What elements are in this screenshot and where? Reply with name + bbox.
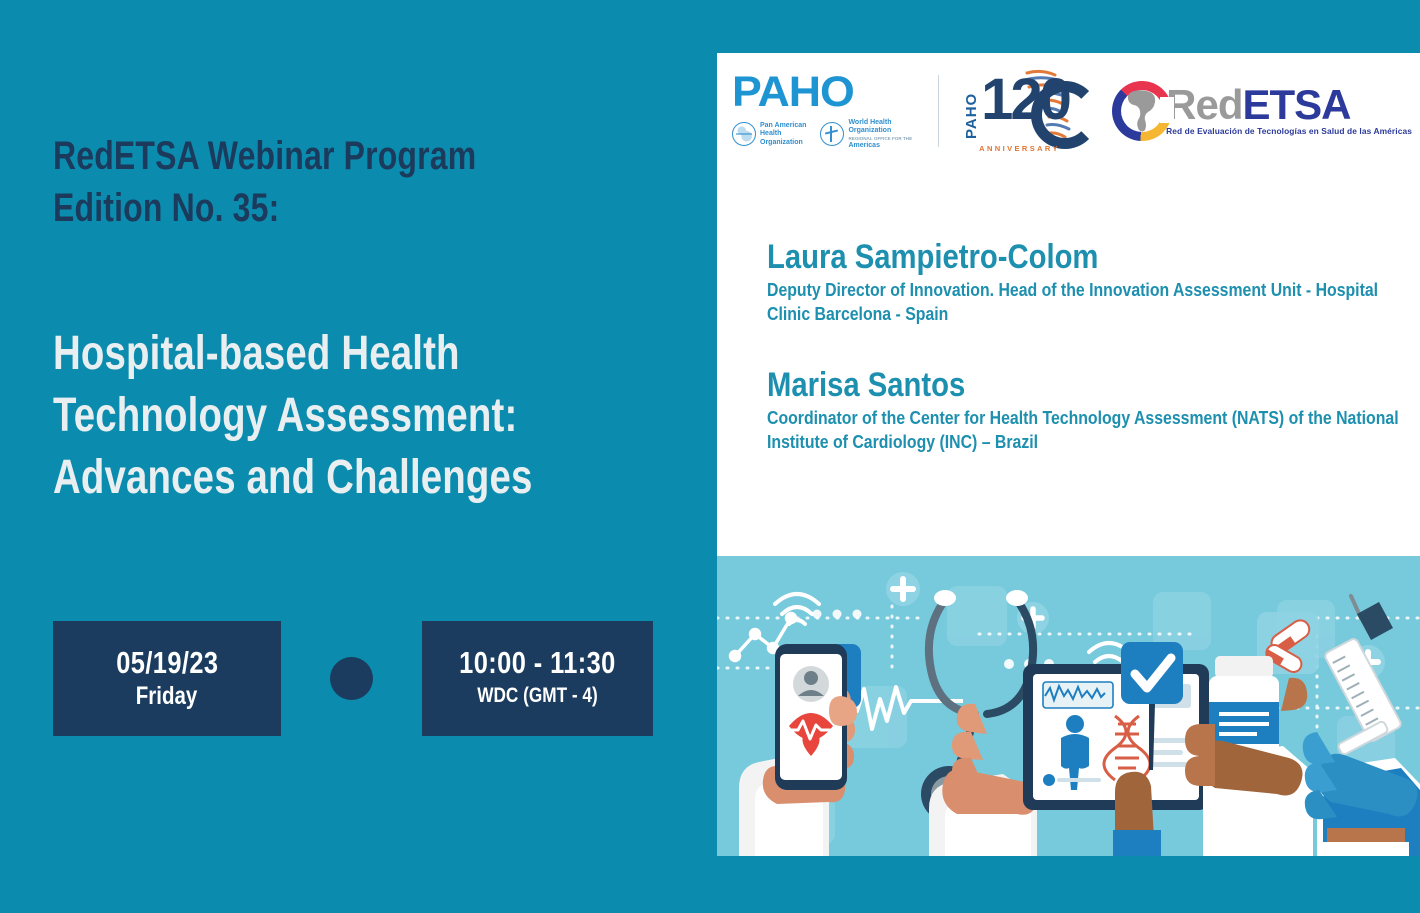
page-title: Hospital-based Health Technology Assessm… — [53, 323, 661, 509]
event-time: 10:00 - 11:30 — [459, 646, 616, 680]
redetsa-wordmark: RedETSA Red de Evaluación de Tecnologías… — [1166, 85, 1412, 136]
illustration-svg — [717, 556, 1420, 856]
who-rod-of-asclepius-icon — [820, 122, 844, 146]
pan-american-health-organization-logo: Pan American Health Organization — [732, 119, 806, 150]
paho-sub-line-3: Organization — [760, 139, 803, 146]
event-date: 05/19/23 — [116, 646, 218, 680]
logo-divider — [938, 75, 939, 147]
kicker-line-1: RedETSA Webinar Program — [53, 130, 549, 182]
speaker-name: Laura Sampietro-Colom — [767, 238, 1326, 276]
who-sub-line-1: World Health — [848, 119, 891, 126]
speaker-role: Coordinator of the Center for Health Tec… — [767, 406, 1413, 454]
paho-sub-text: Pan American Health Organization — [760, 122, 806, 147]
separator-dot — [330, 657, 373, 700]
title-line-1: Hospital-based Health — [53, 323, 661, 385]
kicker-line-2: Edition No. 35: — [53, 182, 549, 234]
speaker-role: Deputy Director of Innovation. Head of t… — [767, 278, 1413, 326]
date-box: 05/19/23 Friday — [53, 621, 281, 736]
left-panel: RedETSA Webinar Program Edition No. 35: … — [0, 0, 717, 913]
who-sub-line-2: Organization — [848, 127, 891, 134]
redetsa-ring-icon — [1112, 81, 1172, 141]
paho-logo: PAHO Pan American Health Organization Wo… — [732, 71, 912, 150]
redetsa-ring-gap — [1160, 97, 1174, 123]
anniversary-word: ANNIVERSARY — [979, 144, 1060, 153]
paho-120th-anniversary-logo: PAHO 120 th ANNIVERSARY — [961, 65, 1091, 157]
world-health-organization-logo: World Health Organization REGIONAL OFFIC… — [820, 119, 912, 150]
event-timezone: WDC (GMT - 4) — [477, 680, 598, 712]
paho-sublogos: Pan American Health Organization World H… — [732, 119, 912, 150]
event-kicker: RedETSA Webinar Program Edition No. 35: — [53, 130, 549, 234]
paho-sub-line-1: Pan American — [760, 122, 806, 129]
anniversary-brand: PAHO — [963, 79, 980, 139]
paho-wordmark: PAHO — [732, 71, 854, 114]
redetsa-tagline: Red de Evaluación de Tecnologías en Salu… — [1166, 126, 1412, 136]
anniversary-ordinal: th — [1063, 79, 1075, 94]
americas-silhouette-icon — [1123, 88, 1161, 134]
redetsa-word: RedETSA — [1166, 85, 1412, 125]
redetsa-logo: RedETSA Red de Evaluación de Tecnologías… — [1112, 81, 1412, 141]
title-line-3: Advances and Challenges — [53, 447, 661, 509]
anniversary-number: 120 — [981, 71, 1069, 129]
event-weekday: Friday — [136, 680, 198, 712]
redetsa-part-etsa: ETSA — [1242, 81, 1350, 128]
speaker-name: Marisa Santos — [767, 366, 1326, 404]
who-sub-text: World Health Organization REGIONAL OFFIC… — [848, 119, 912, 150]
speaker-item: Laura Sampietro-Colom Deputy Director of… — [767, 238, 1417, 326]
globe-icon — [732, 122, 756, 146]
speakers-card: PAHO Pan American Health Organization Wo… — [717, 53, 1420, 856]
paho-sub-line-2: Health — [760, 130, 781, 137]
health-technology-illustration — [717, 556, 1420, 856]
speakers-list: Laura Sampietro-Colom Deputy Director of… — [767, 238, 1417, 494]
speaker-item: Marisa Santos Coordinator of the Center … — [767, 366, 1417, 454]
schedule-row: 05/19/23 Friday 10:00 - 11:30 WDC (GMT -… — [53, 621, 653, 736]
redetsa-part-red: Red — [1166, 81, 1242, 128]
time-box: 10:00 - 11:30 WDC (GMT - 4) — [422, 621, 653, 736]
who-sub-line-3: Americas — [848, 142, 880, 149]
title-line-2: Technology Assessment: — [53, 385, 661, 447]
logo-bar: PAHO Pan American Health Organization Wo… — [717, 53, 1420, 168]
